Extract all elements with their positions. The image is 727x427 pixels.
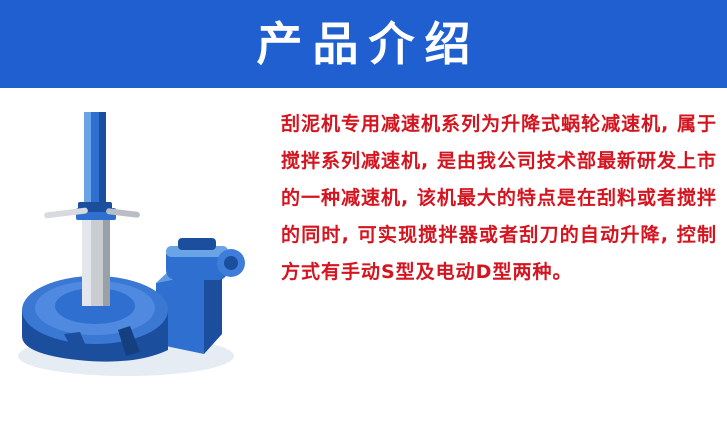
description-text: 刮泥机专用减速机系列为升降式蜗轮减速机, 属于搅拌系列减速机, 是由我公司技术部…: [281, 106, 717, 291]
page-title: 产品介绍: [0, 0, 727, 88]
motor-housing: [156, 238, 245, 354]
upper-shaft: [78, 112, 112, 212]
product-image: [8, 98, 274, 388]
product-introduction-page: 产品介绍: [0, 0, 727, 427]
content-area: 刮泥机专用减速机系列为升降式蜗轮减速机, 属于搅拌系列减速机, 是由我公司技术部…: [0, 88, 727, 427]
page-banner: 产品介绍: [0, 0, 727, 88]
product-description: 刮泥机专用减速机系列为升降式蜗轮减速机, 属于搅拌系列减速机, 是由我公司技术部…: [281, 106, 717, 291]
